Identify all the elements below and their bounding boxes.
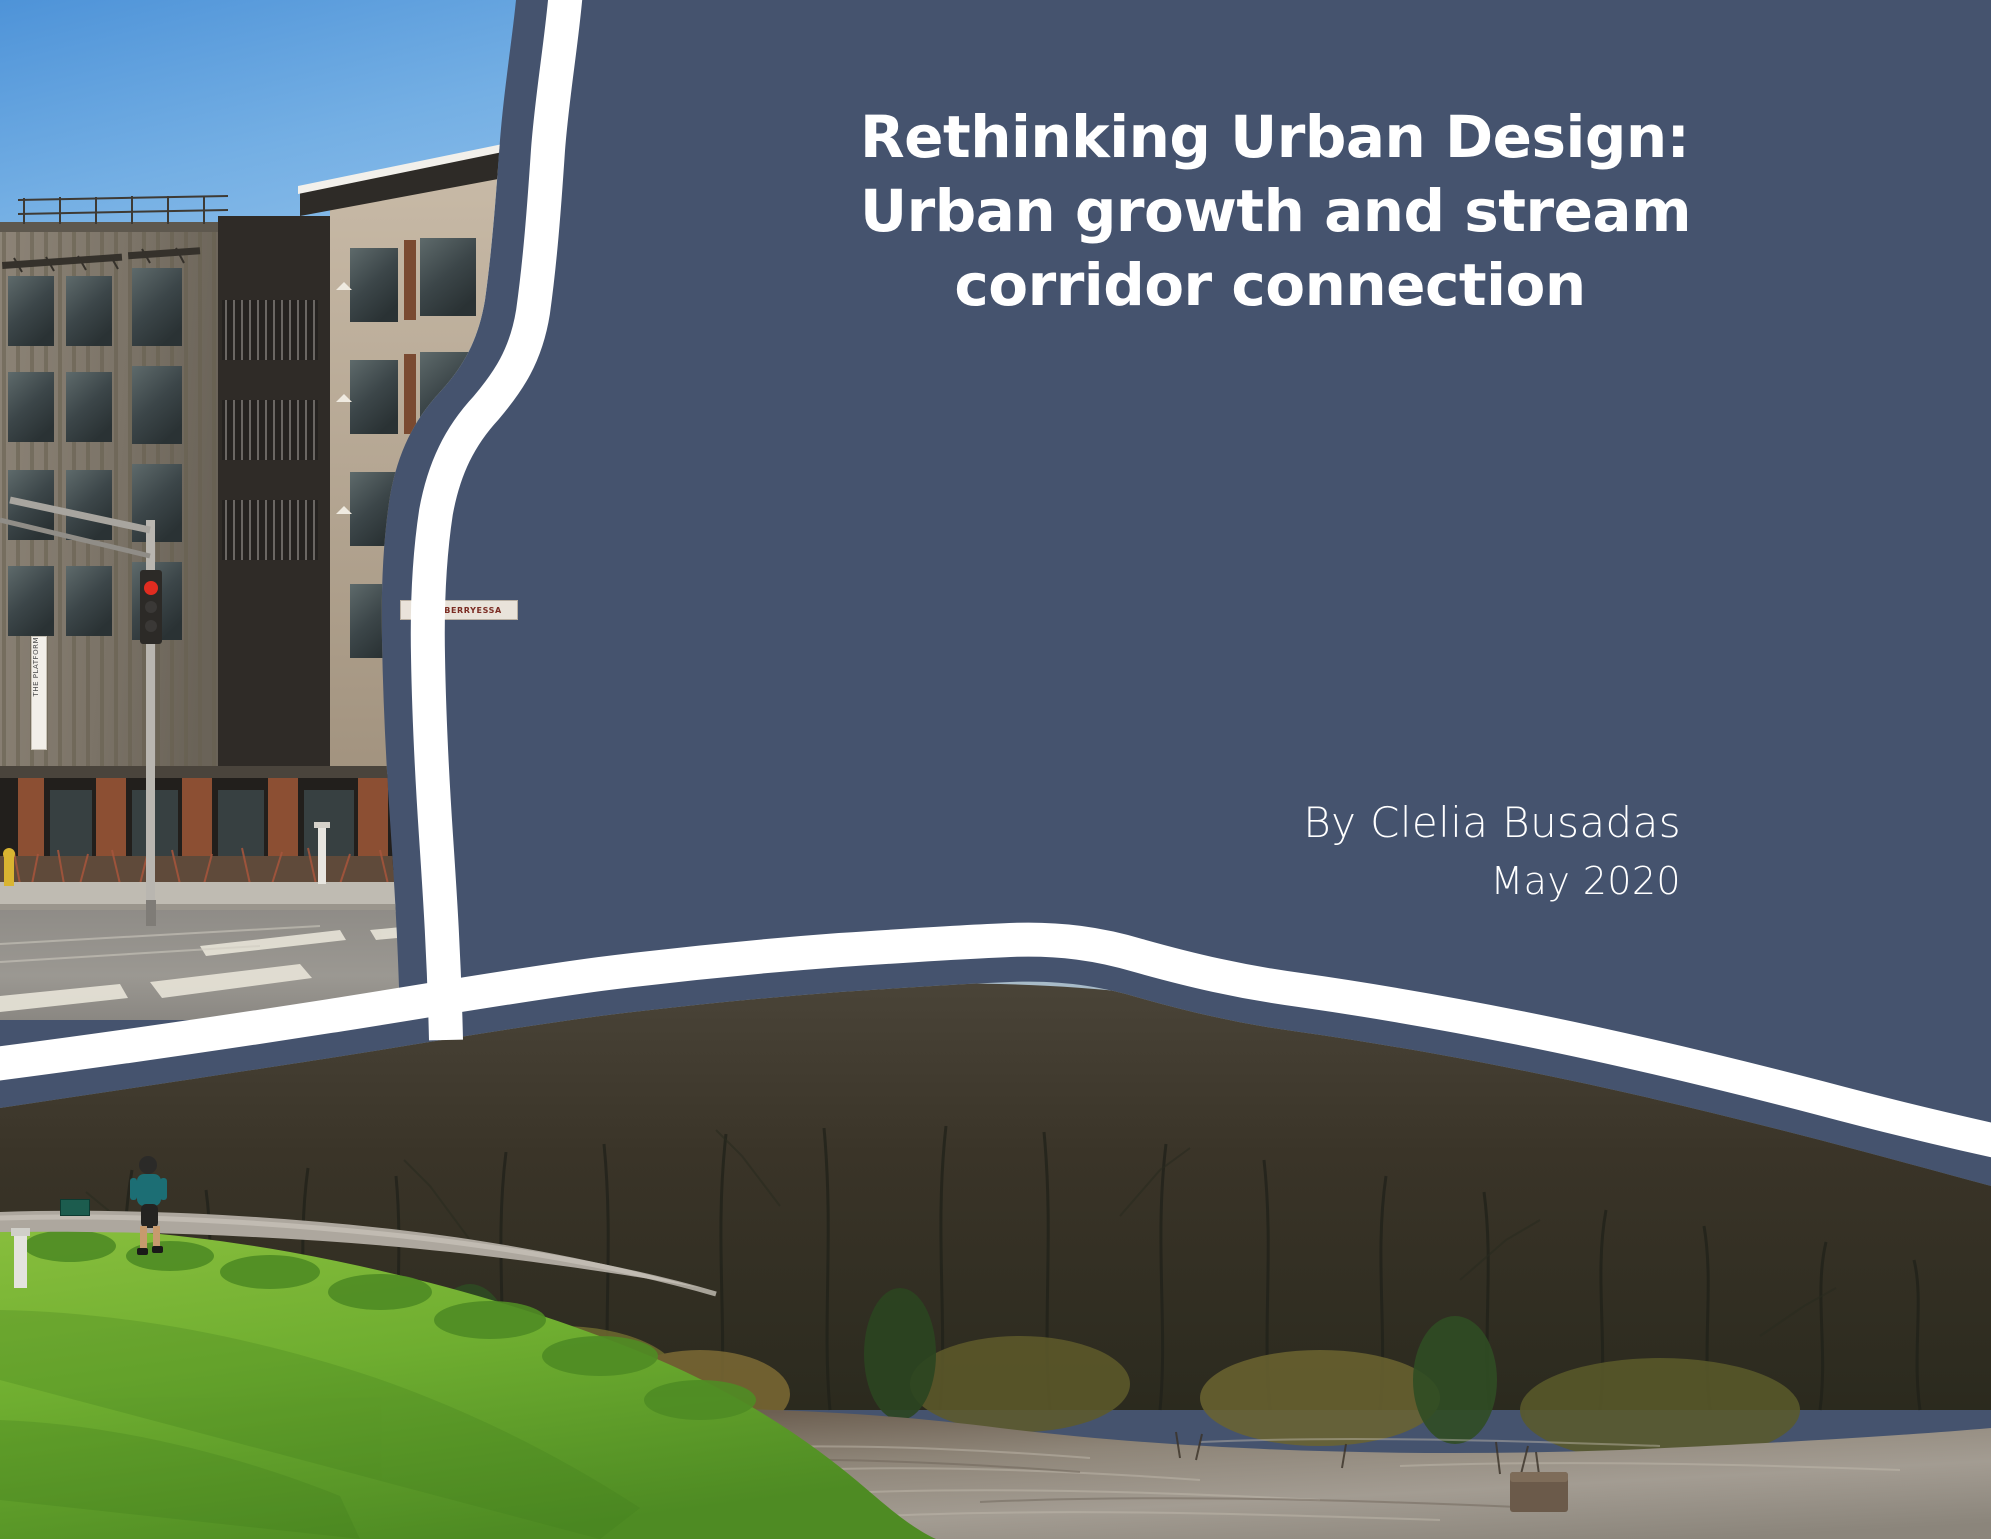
title-line-1: Rethinking Urban Design:: [860, 100, 1680, 174]
photo-creek-corridor: [0, 980, 1991, 1539]
publication-date: May 2020: [1303, 856, 1681, 907]
platform-vertical-sign: THE PLATFORM: [31, 636, 47, 750]
title-line-2: Urban growth and stream: [860, 174, 1680, 248]
cover-title-block: Rethinking Urban Design: Urban growth an…: [860, 100, 1680, 323]
title-line-3: corridor connection: [860, 248, 1680, 322]
building-address-sign: 1501 BERRYESSA: [400, 600, 518, 620]
platform-sign-label: THE PLATFORM: [32, 637, 43, 700]
trail-marker-sign: [60, 1199, 90, 1216]
author-name: By Clelia Busadas: [1303, 798, 1681, 848]
photo-street-urban: 1501 BERRYESSA THE PLATFORM: [0, 0, 600, 1020]
creek-photo-art: [0, 980, 1991, 1539]
byline-block: By Clelia Busadas May 2020: [1303, 798, 1681, 908]
street-photo-art: [0, 0, 600, 1020]
cover-page: 1501 BERRYESSA THE PLATFORM: [0, 0, 1991, 1539]
